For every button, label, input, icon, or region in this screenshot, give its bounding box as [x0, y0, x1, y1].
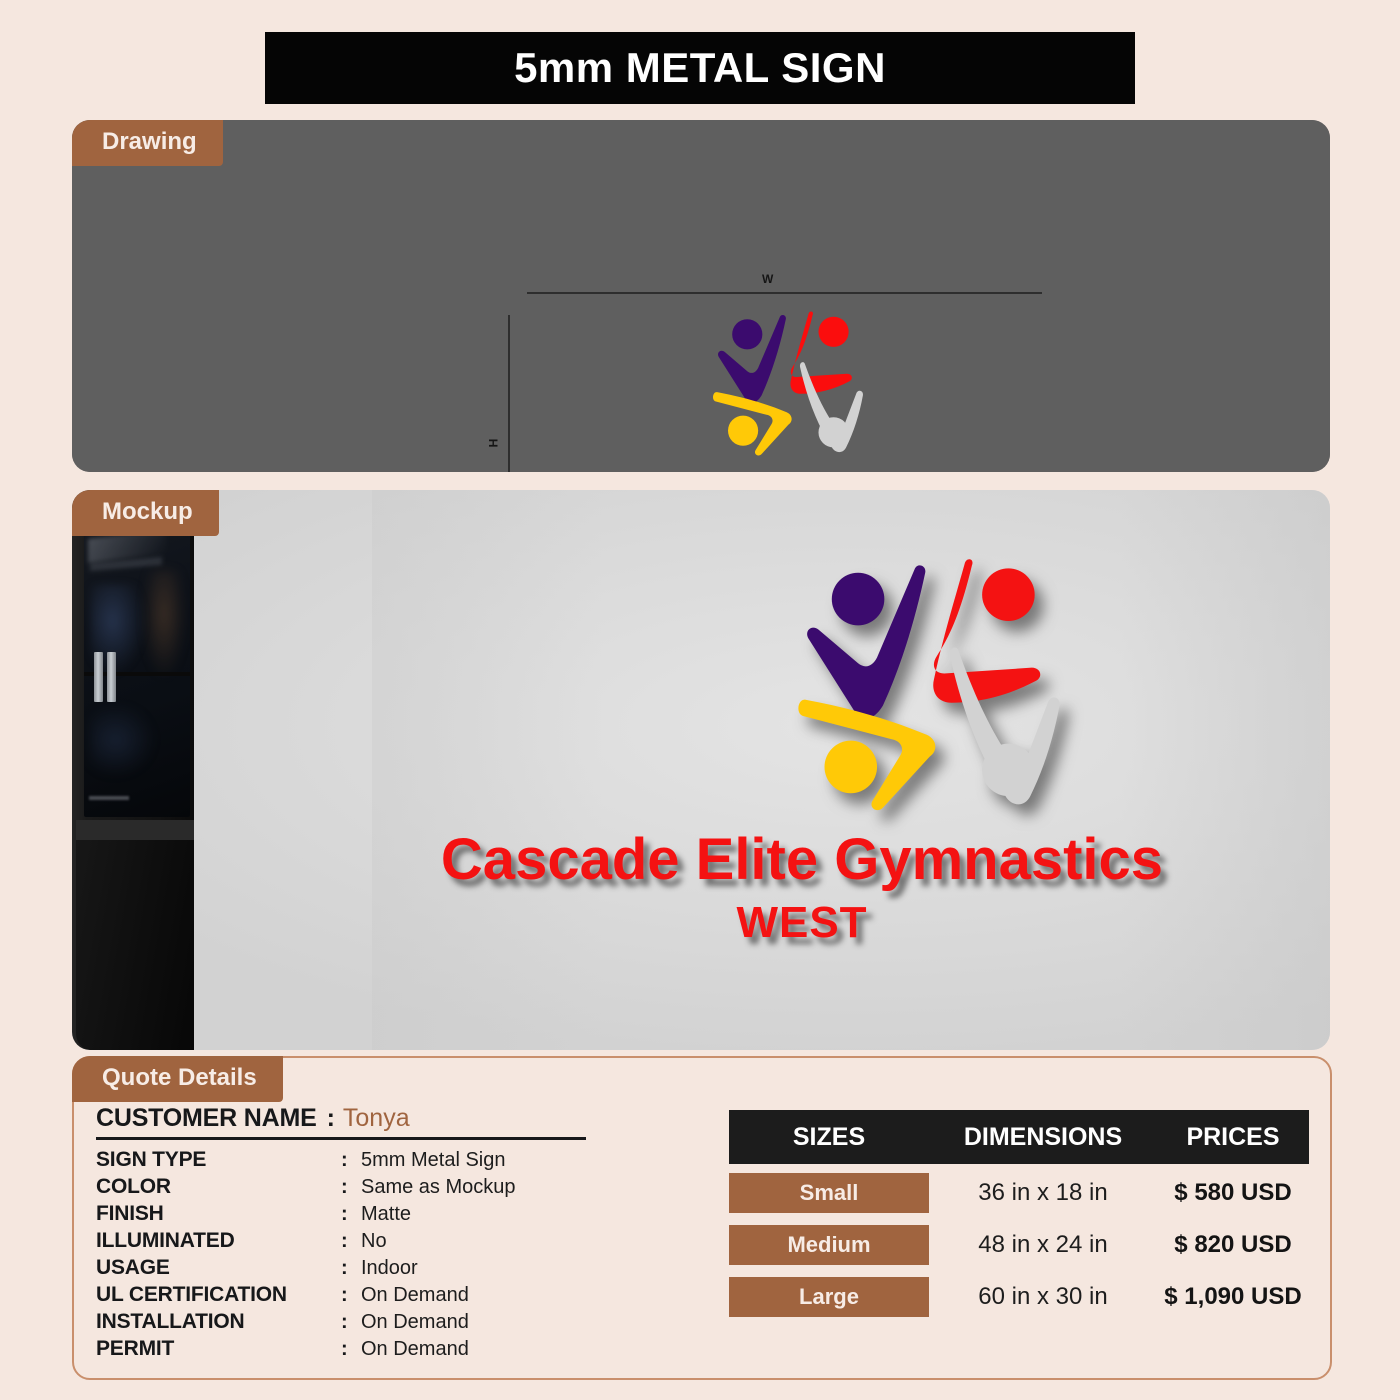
glass-warm-tint — [142, 570, 186, 680]
mockup-brand-sub: WEST — [302, 898, 1302, 948]
price-table-row: Small 36 in x 18 in $ 580 USD — [729, 1169, 1309, 1216]
spec-label: COLOR — [96, 1175, 341, 1199]
glass-lower-reflection — [90, 704, 154, 776]
spec-value: On Demand — [361, 1338, 469, 1361]
price-table-header: SIZES DIMENSIONS PRICES — [729, 1110, 1309, 1164]
spec-value: Same as Mockup — [361, 1176, 516, 1199]
price-table-header-prices: PRICES — [1157, 1123, 1309, 1152]
quote-details-panel: CUSTOMER NAME : Tonya SIGN TYPE : 5mm Me… — [72, 1056, 1332, 1380]
spec-row: FINISH : Matte — [96, 1202, 696, 1229]
wall-shading-left — [372, 490, 602, 1050]
gymnastics-figures-logo-icon — [780, 548, 1085, 818]
spec-row: COLOR : Same as Mockup — [96, 1175, 696, 1202]
spec-colon: : — [341, 1311, 361, 1334]
spec-row: UL CERTIFICATION : On Demand — [96, 1283, 696, 1310]
spec-value: On Demand — [361, 1284, 469, 1307]
cabinet-handle-left — [94, 652, 103, 702]
price-amount: $ 1,090 USD — [1157, 1283, 1309, 1311]
price-amount: $ 580 USD — [1157, 1179, 1309, 1207]
price-table-row: Medium 48 in x 24 in $ 820 USD — [729, 1221, 1309, 1268]
cabinet-lower-body — [76, 840, 194, 1050]
price-dimensions: 48 in x 24 in — [929, 1231, 1157, 1259]
page-title-bar: 5mm METAL SIGN — [265, 32, 1135, 104]
height-dimension-line — [508, 315, 510, 472]
price-table-header-dimensions: DIMENSIONS — [929, 1123, 1157, 1152]
price-size-badge: Medium — [729, 1225, 929, 1265]
cabinet-handle-right — [107, 652, 116, 702]
mockup-logo: Cascade Elite Gymnastics WEST — [672, 548, 1292, 968]
price-size-badge: Large — [729, 1277, 929, 1317]
spec-value: 5mm Metal Sign — [361, 1149, 506, 1172]
spec-label: SIGN TYPE — [96, 1148, 341, 1172]
spec-colon: : — [341, 1149, 361, 1172]
price-table: SIZES DIMENSIONS PRICES Small 36 in x 18… — [729, 1110, 1309, 1320]
width-dimension-label: W — [762, 272, 773, 286]
customer-name-colon: : — [327, 1104, 335, 1133]
spec-label: FINISH — [96, 1202, 341, 1226]
spec-value: Matte — [361, 1203, 411, 1226]
drawing-brand-name: Cascade Elite Gymnastics — [520, 465, 1060, 472]
customer-name-row: CUSTOMER NAME : Tonya — [96, 1104, 586, 1140]
dark-cabinet — [72, 490, 194, 1050]
price-dimensions: 36 in x 18 in — [929, 1179, 1157, 1207]
price-amount: $ 820 USD — [1157, 1231, 1309, 1259]
spec-colon: : — [341, 1284, 361, 1307]
spec-value: Indoor — [361, 1257, 418, 1280]
page-title: 5mm METAL SIGN — [514, 44, 886, 92]
spec-row: SIGN TYPE : 5mm Metal Sign — [96, 1148, 696, 1175]
cabinet-divider — [76, 820, 194, 842]
spec-label: INSTALLATION — [96, 1310, 341, 1334]
drawing-panel: W H Cascade Elite Gym — [72, 120, 1330, 472]
spec-label: PERMIT — [96, 1337, 341, 1361]
drawing-tab-label: Drawing — [72, 120, 223, 166]
spec-value: No — [361, 1230, 387, 1253]
spec-row: PERMIT : On Demand — [96, 1337, 696, 1364]
spec-colon: : — [341, 1203, 361, 1226]
quote-details-tab-label: Quote Details — [72, 1056, 283, 1102]
glass-sticker — [89, 796, 129, 800]
customer-name-label: CUSTOMER NAME — [96, 1104, 317, 1133]
spec-colon: : — [341, 1176, 361, 1199]
spec-row: INSTALLATION : On Demand — [96, 1310, 696, 1337]
spec-label: ILLUMINATED — [96, 1229, 341, 1253]
price-table-row: Large 60 in x 30 in $ 1,090 USD — [729, 1273, 1309, 1320]
mockup-brand-name: Cascade Elite Gymnastics — [302, 826, 1302, 893]
spec-colon: : — [341, 1230, 361, 1253]
spec-colon: : — [341, 1338, 361, 1361]
price-dimensions: 60 in x 30 in — [929, 1283, 1157, 1311]
spec-label: UL CERTIFICATION — [96, 1283, 341, 1307]
mockup-panel: Cascade Elite Gymnastics WEST — [72, 490, 1330, 1050]
quote-spec-list: CUSTOMER NAME : Tonya SIGN TYPE : 5mm Me… — [96, 1104, 696, 1364]
spec-label: USAGE — [96, 1256, 341, 1280]
customer-name-value: Tonya — [343, 1104, 410, 1133]
height-dimension-label: H — [486, 439, 500, 448]
spec-colon: : — [341, 1257, 361, 1280]
mockup-tab-label: Mockup — [72, 490, 219, 536]
drawing-logo: Cascade Elite Gymnastics WEST — [520, 305, 1060, 472]
cabinet-glass-door — [84, 512, 190, 817]
spec-row: USAGE : Indoor — [96, 1256, 696, 1283]
gymnastics-figures-logo-icon — [705, 305, 875, 460]
spec-value: On Demand — [361, 1311, 469, 1334]
price-size-badge: Small — [729, 1173, 929, 1213]
width-dimension-line — [527, 292, 1042, 294]
spec-row: ILLUMINATED : No — [96, 1229, 696, 1256]
price-table-header-sizes: SIZES — [729, 1123, 929, 1152]
